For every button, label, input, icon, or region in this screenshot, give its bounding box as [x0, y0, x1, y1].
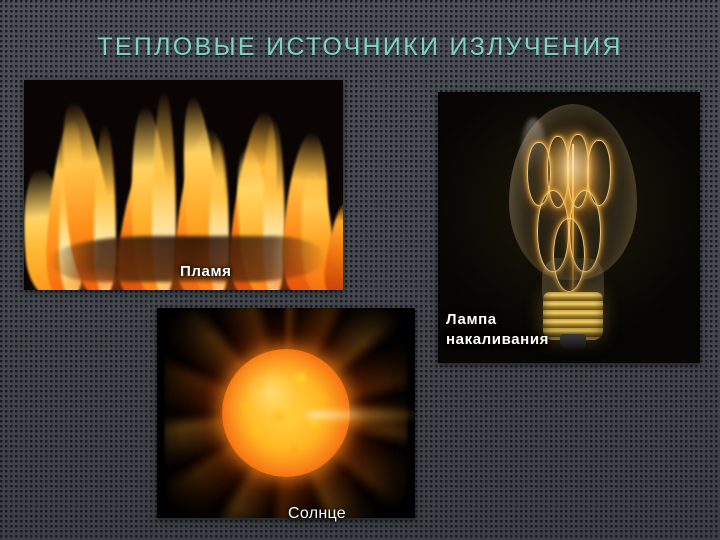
bulb-contact-tip	[560, 334, 586, 349]
figure-bulb-caption: Лампа накаливания	[446, 310, 549, 350]
figure-sun-image	[157, 308, 415, 518]
figure-flame-image	[24, 80, 343, 290]
sun-flare	[307, 405, 415, 425]
page-title: Тепловые источники излучения	[0, 33, 720, 62]
filament-hotspot	[547, 138, 599, 198]
flame-artwork	[24, 80, 343, 290]
bulb-screw-base	[543, 292, 603, 340]
slide-canvas: Тепловые источники излучения Пламя	[0, 0, 720, 540]
figure-sun-caption: Солнце	[288, 503, 346, 524]
figure-flame-caption: Пламя	[180, 262, 232, 282]
